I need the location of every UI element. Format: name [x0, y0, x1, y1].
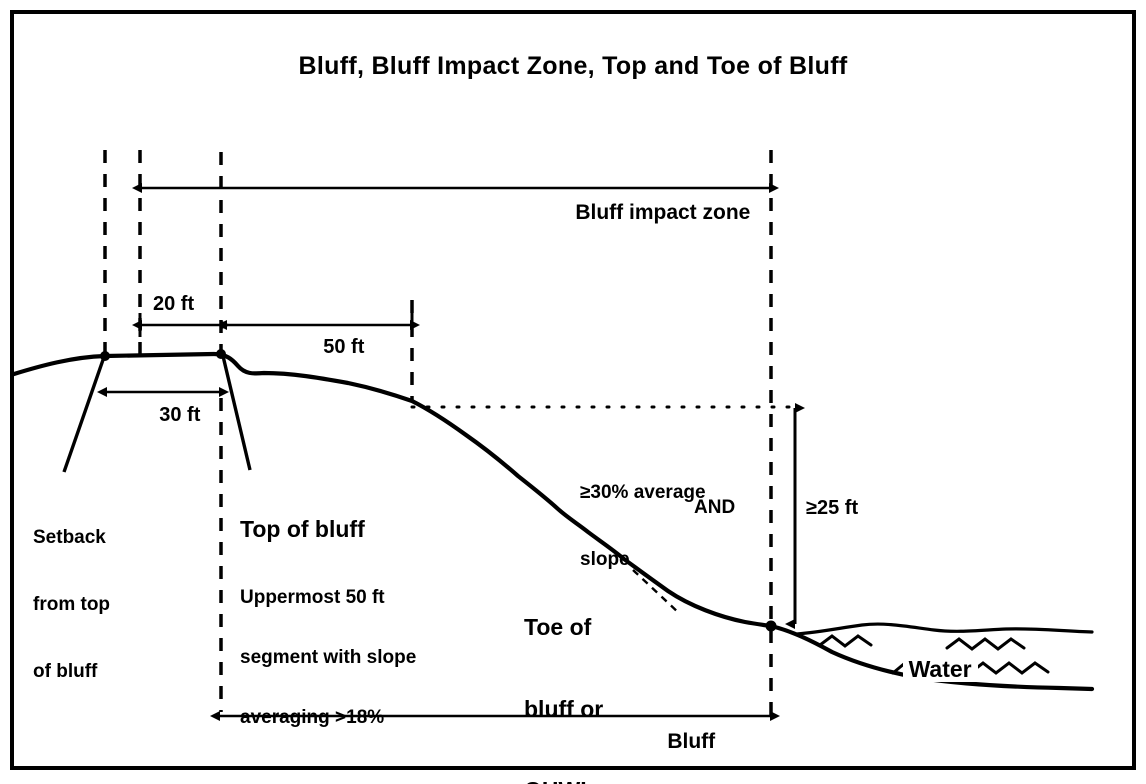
water-label: Water [877, 629, 978, 710]
twenty-ft-label: 20 ft [153, 293, 194, 317]
top-of-bluff-line-3: averaging >18% [240, 707, 416, 729]
toe-line-1: Toe of [524, 614, 603, 641]
thirty-ft-label: 30 ft [131, 380, 206, 451]
top-of-bluff-line-1: Uppermost 50 ft [240, 587, 416, 609]
page-title: Bluff, Bluff Impact Zone, Top and Toe of… [0, 52, 1146, 82]
bluff-impact-zone-label: Bluff impact zone [546, 176, 756, 250]
toe-of-bluff-point [766, 621, 777, 632]
toe-line-3: OHWL. [524, 777, 603, 784]
setback-leader-line [64, 357, 104, 472]
setback-line-3: of bluff [33, 661, 110, 683]
setback-line-2: from top [33, 594, 110, 616]
slope-criteria-line-1: ≥30% average [580, 482, 706, 504]
twentyfive-ft-label: ≥25 ft [806, 497, 858, 521]
top-of-bluff-point [216, 349, 226, 359]
slope-criteria-conjunction: AND [694, 497, 735, 519]
water-wave-left [820, 636, 871, 646]
toe-of-bluff-annotation: Toe of bluff or OHWL. [524, 560, 603, 784]
top-of-bluff-annotation: Top of bluff Uppermost 50 ft segment wit… [240, 478, 416, 767]
setback-annotation: Setback from top of bluff [33, 482, 110, 728]
top-of-bluff-line-2: segment with slope [240, 647, 416, 669]
bluff-diagram-figure: Bluff, Bluff Impact Zone, Top and Toe of… [0, 0, 1146, 784]
setback-point [100, 351, 110, 361]
bluff-width-label: Bluff [638, 705, 721, 779]
fifty-ft-label: 50 ft [295, 312, 370, 383]
top-of-bluff-heading: Top of bluff [240, 516, 416, 543]
setback-line-1: Setback [33, 527, 110, 549]
toe-line-2: bluff or [524, 696, 603, 723]
